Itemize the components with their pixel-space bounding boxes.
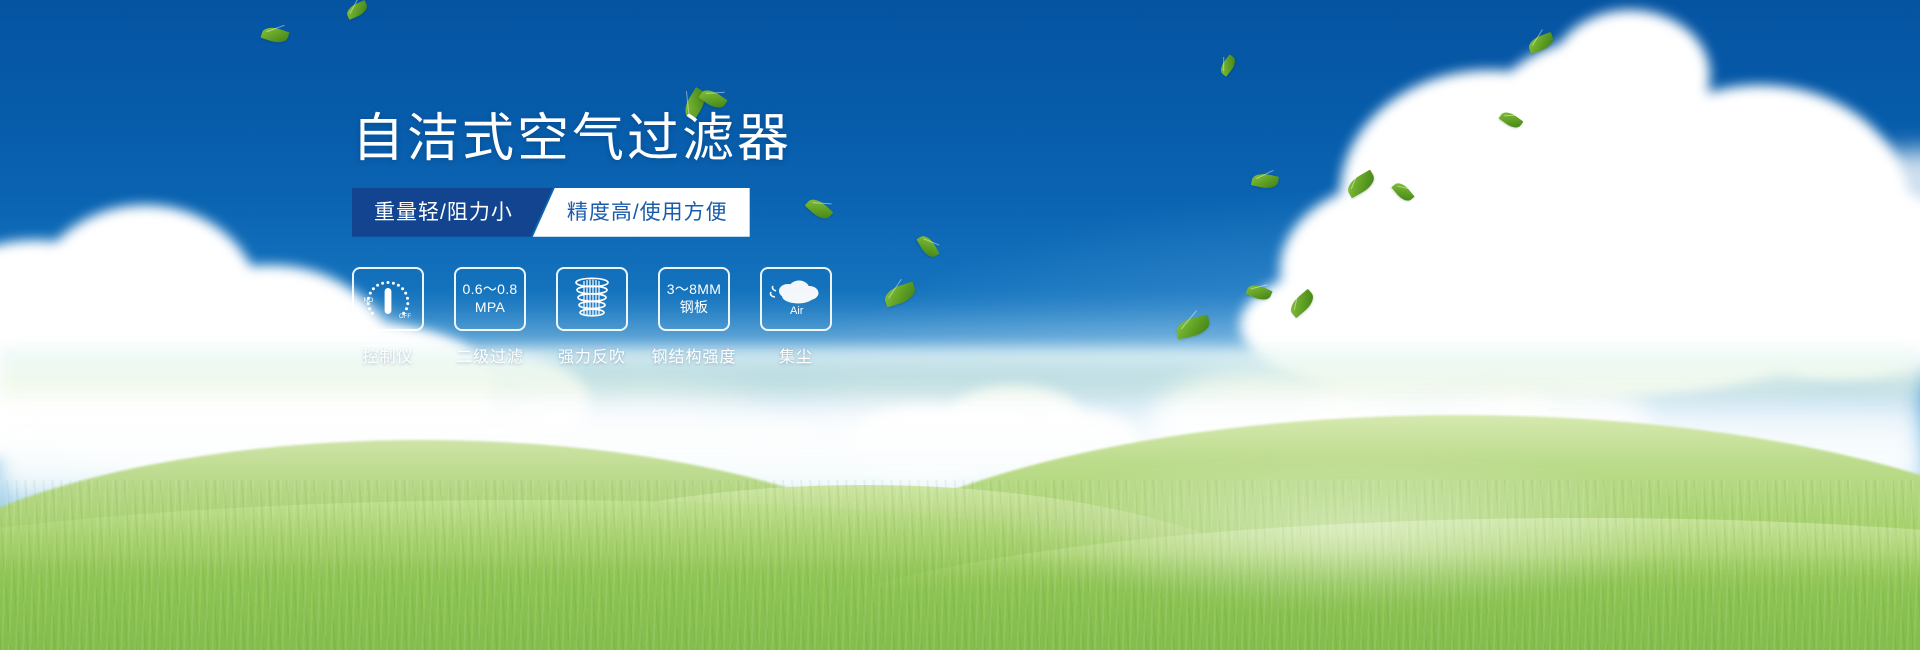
banner-content: 自洁式空气过滤器 重量轻/阻力小 精度高/使用方便 [352,110,1112,367]
svg-text:Air: Air [790,305,804,317]
feature-label: 集尘 [779,343,813,367]
feature-label: 二级过滤 [456,343,524,367]
feature-icon-box: 3～8MM 钢板 [658,267,730,331]
grass-field [0,370,1920,650]
feature-steel-structure: 3～8MM 钢板 钢结构强度 [658,267,730,367]
badge-row: 重量轻/阻力小 精度高/使用方便 [352,188,1112,237]
feature-icon-box: Air [760,267,832,331]
feature-icon-box: 0.6～0.8 MPA [454,267,526,331]
cloud-air-icon: Air [769,278,823,320]
feature-label: 控制仪 [362,343,413,367]
steel-plate-text-icon-line1: 3～8MM [667,281,721,299]
feature-label: 钢结构强度 [652,343,737,367]
feature-icon-row: NO OFF 控制仪 0.6～0.8 MPA 二级过滤 [352,267,1112,367]
feature-icon-box: NO OFF [352,267,424,331]
banner-title: 自洁式空气过滤器 [352,110,1112,170]
grass-sun-glow [998,450,1698,610]
feature-two-stage-filter: 0.6～0.8 MPA 二级过滤 [454,267,526,367]
feature-icon-box [556,267,628,331]
badge-weight-resistance: 重量轻/阻力小 [352,188,553,237]
pressure-text-icon-line1: 0.6～0.8 [462,281,517,299]
coil-filter-icon [569,276,615,322]
feature-label: 强力反吹 [558,343,626,367]
feature-strong-backblow: 强力反吹 [556,267,628,367]
feature-dust-collection: Air 集尘 [760,267,832,367]
svg-text:OFF: OFF [399,314,411,320]
svg-text:NO: NO [364,297,374,304]
pressure-text-icon-line2: MPA [475,299,505,317]
gauge-dial-icon: NO OFF [361,277,415,321]
feature-controller: NO OFF 控制仪 [352,267,424,367]
badge-precision-convenience: 精度高/使用方便 [533,188,750,237]
steel-plate-text-icon-line2: 钢板 [680,299,709,317]
hero-banner: 自洁式空气过滤器 重量轻/阻力小 精度高/使用方便 [0,0,1920,650]
